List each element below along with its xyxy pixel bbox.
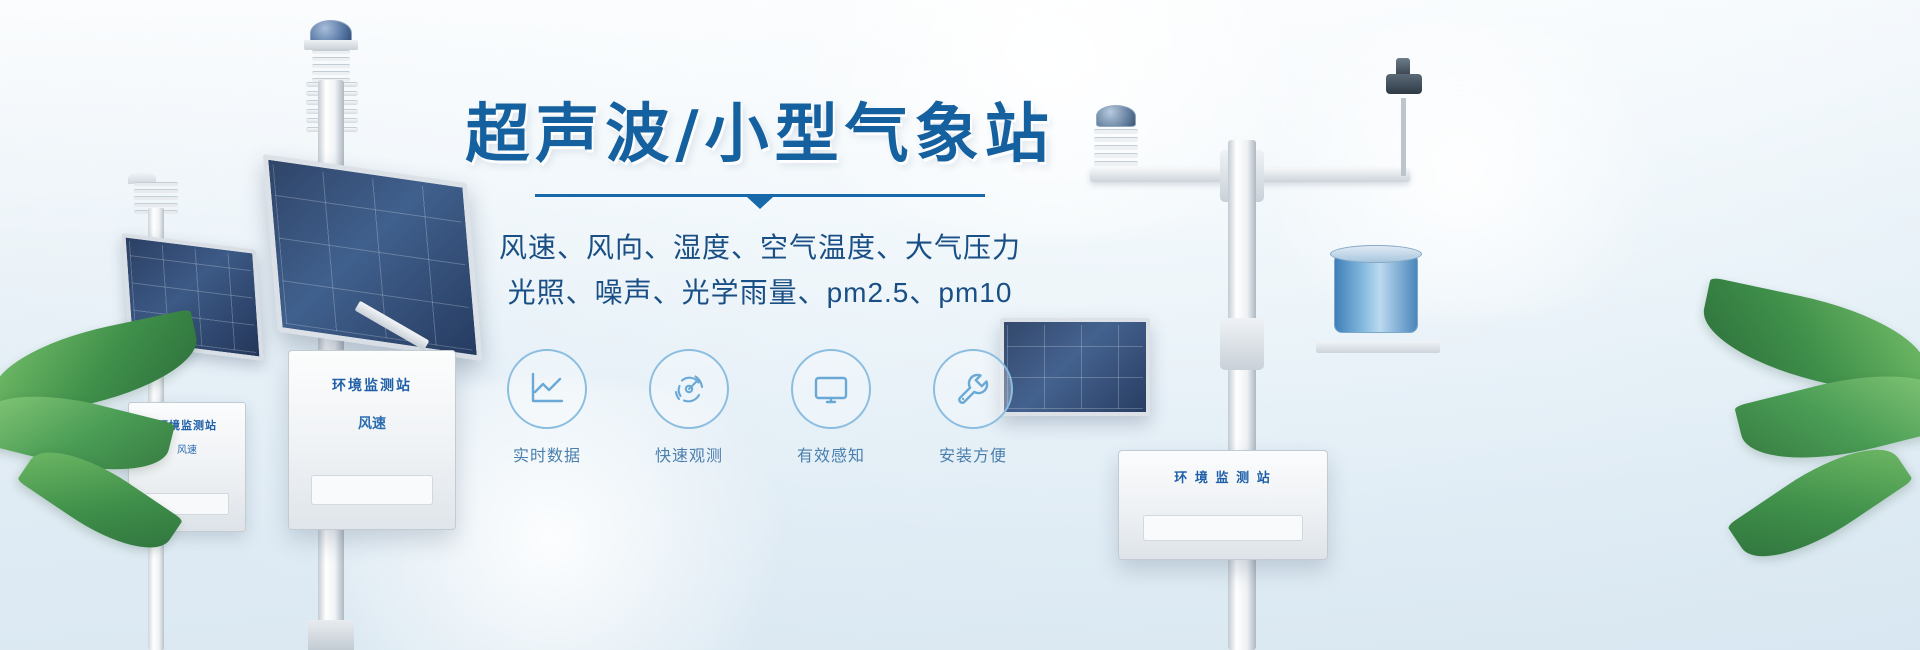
subtitle-block: 风速、风向、湿度、空气温度、大气压力 光照、噪声、光学雨量、pm2.5、pm10 (450, 225, 1070, 316)
feature-item-fast-observation[interactable]: 快速观测 (645, 349, 733, 466)
feature-item-realtime-data[interactable]: 实时数据 (503, 349, 591, 466)
product-banner: 环境监测站 风速 环境监测站 风速 (0, 0, 1920, 650)
line-chart-icon (507, 349, 587, 429)
pole-base (308, 620, 354, 650)
gauge-mount-shelf (1316, 341, 1440, 353)
gauge-rim (1330, 245, 1422, 263)
feature-label: 快速观测 (645, 442, 733, 466)
feature-item-easy-installation[interactable]: 安装方便 (929, 349, 1017, 466)
cabinet-vent (1143, 515, 1303, 541)
mast-clamp (1220, 318, 1264, 370)
weather-station-unit-right: 环 境 监 测 站 (1080, 50, 1440, 650)
feature-list: 实时数据 快速观测 (450, 349, 1070, 466)
ultrasonic-sensor-icon (1086, 105, 1146, 169)
title-divider (535, 194, 985, 197)
cabinet-brand-logo: 风速 (289, 413, 455, 433)
feature-label: 有效感知 (787, 442, 875, 466)
feature-label: 实时数据 (503, 442, 591, 466)
cabinet-label: 环 境 监 测 站 (1119, 467, 1327, 486)
feature-item-effective-sensing[interactable]: 有效感知 (787, 349, 875, 466)
banner-content: 超声波/小型气象站 风速、风向、湿度、空气温度、大气压力 光照、噪声、光学雨量、… (450, 100, 1070, 466)
ultrasonic-sensor-icon (300, 20, 362, 82)
sensor-stack (1094, 129, 1138, 169)
sensor-arms (304, 40, 358, 50)
monitor-icon (791, 349, 871, 429)
subtitle-line-2: 光照、噪声、光学雨量、pm2.5、pm10 (450, 270, 1070, 315)
gauge-cylinder (1334, 253, 1418, 333)
sensor-stack (312, 50, 350, 82)
wrench-icon (933, 349, 1013, 429)
subtitle-line-1: 风速、风向、湿度、空气温度、大气压力 (450, 225, 1070, 270)
radar-scan-icon (649, 349, 729, 429)
vane-body (1386, 74, 1422, 94)
control-cabinet: 环境监测站 风速 (288, 350, 456, 530)
rain-gauge-sensor (1330, 245, 1422, 345)
vane-pole (1401, 98, 1406, 176)
page-title: 超声波/小型气象站 (450, 100, 1070, 172)
wind-vane-sensor (1380, 58, 1426, 176)
control-cabinet: 环 境 监 测 站 (1118, 450, 1328, 560)
cabinet-vent (311, 475, 433, 505)
cabinet-label: 环境监测站 (289, 375, 455, 395)
feature-label: 安装方便 (929, 442, 1017, 466)
sensor-dome (1096, 105, 1136, 127)
mast-pole (1228, 140, 1256, 650)
